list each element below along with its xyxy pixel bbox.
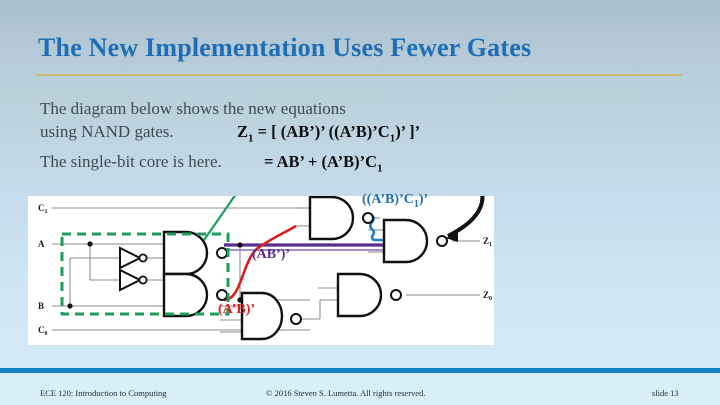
equation-z1-simplified-body: = AB’ + (A’B)’C	[264, 152, 377, 171]
annotation-ab-prime: (AB’)’	[252, 247, 290, 263]
title-underline-rule	[36, 74, 682, 76]
nand-bubble-z1	[437, 236, 447, 246]
slide-canvas: The New Implementation Uses Fewer Gates …	[0, 0, 720, 405]
footer-slide-number: slide 13	[652, 388, 679, 398]
footer-copyright-label: © 2016 Steven S. Lumetta. All rights res…	[266, 388, 425, 398]
nand-bubble-lower	[291, 314, 301, 324]
body-text-line-3: The single-bit core is here.	[40, 152, 222, 172]
port-label-c0: C0	[38, 325, 48, 337]
circuit-diagram-figure: C1 A B C0 Z1 Z0	[28, 196, 494, 345]
equation-z1: Z1 = [ (AB’)’ ((A’B)’C1)’ ]’	[237, 122, 420, 144]
annotation-a-prime-b: (A’B)’	[218, 302, 255, 318]
nand-bubble-z0	[391, 290, 401, 300]
equation-z1-simplified-subscript: 1	[377, 162, 383, 174]
annotation-a-prime-b-c1: ((A’B)’C1)’	[362, 192, 428, 210]
port-label-z0: Z0	[483, 290, 492, 302]
port-label-a: A	[38, 239, 45, 249]
junction-dot-b	[67, 303, 72, 308]
page-title: The New Implementation Uses Fewer Gates	[38, 33, 678, 63]
pointer-arrow-z1	[448, 196, 482, 236]
equation-z1-tail: )’ ]’	[395, 122, 420, 141]
nand-bubble-apbc1	[363, 213, 373, 223]
nand-gate-z1	[384, 220, 427, 262]
annotation-apbc1-prefix: ((A’B)’C	[362, 192, 414, 207]
wire-a-prime-b	[224, 226, 296, 300]
port-label-z1: Z1	[483, 236, 492, 248]
annotation-apbc1-tail: )’	[419, 192, 428, 207]
footer-course-label: ECE 120: Introduction to Computing	[40, 388, 167, 398]
nand-gate-z0	[338, 274, 381, 316]
port-label-c1: C1	[38, 203, 48, 215]
equation-z1-body: = [ (AB’)’ ((A’B)’C	[254, 122, 390, 141]
body-text-line-1: The diagram below shows the new equation…	[40, 99, 346, 119]
inverter-a	[120, 248, 147, 268]
inverter-b	[120, 270, 147, 290]
nand-bubble-a-prime-b	[217, 290, 227, 300]
nand-gate-a-prime-b	[164, 274, 207, 316]
equation-z1-var: Z	[237, 122, 248, 141]
nand-bubble-ab-prime	[217, 248, 227, 258]
junction-dot-a	[87, 241, 92, 246]
port-label-b: B	[38, 301, 44, 311]
nand-gate-ab-prime	[164, 232, 207, 274]
equation-z1-simplified: = AB’ + (A’B)’C1	[264, 152, 383, 174]
nand-gate-apbc1	[310, 197, 353, 239]
wire-ab-prime	[224, 242, 384, 250]
circuit-diagram-svg: C1 A B C0 Z1 Z0	[28, 196, 494, 345]
body-text-line-2: using NAND gates.	[40, 122, 174, 142]
